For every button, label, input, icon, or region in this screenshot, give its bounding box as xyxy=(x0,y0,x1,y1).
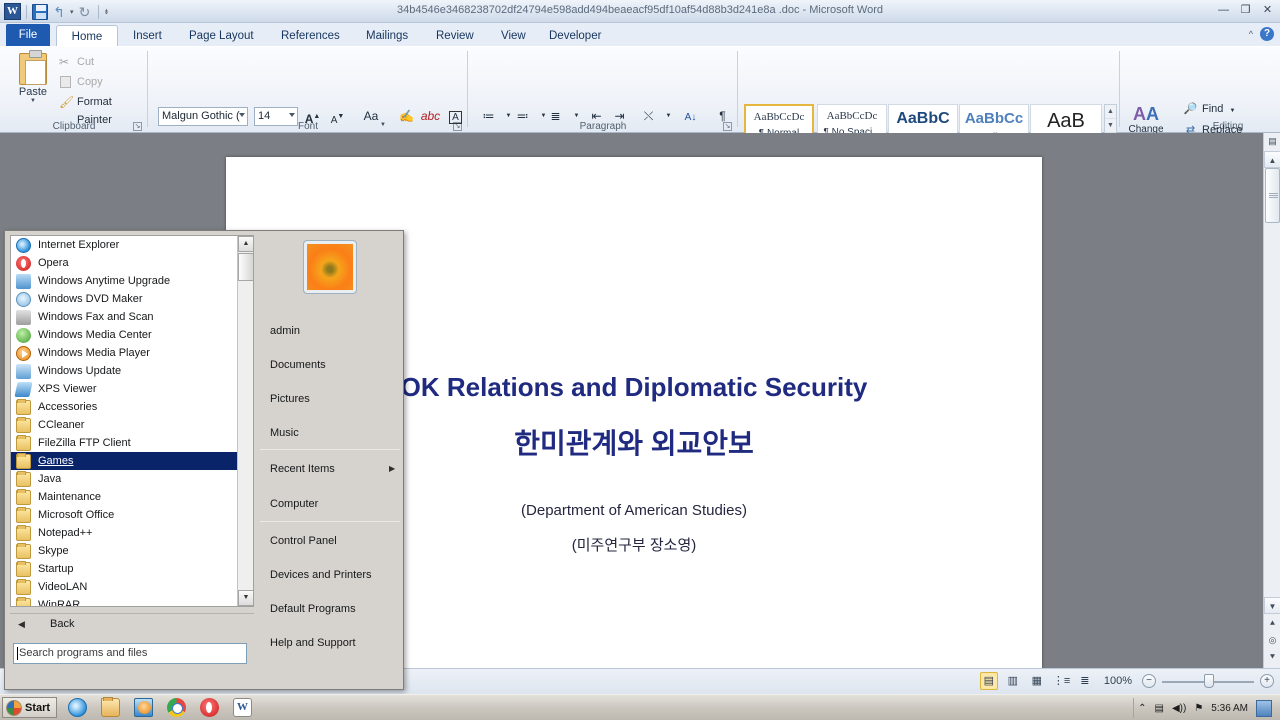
start-menu-scrollbar[interactable]: ▲ ▼ xyxy=(237,236,253,606)
clear-formatting-icon: ✍ xyxy=(399,109,414,123)
restore-button[interactable]: ❐ xyxy=(1237,3,1254,18)
opera-icon xyxy=(16,256,31,271)
pilcrow-icon: ¶ xyxy=(719,109,725,123)
show-formatting-marks-button[interactable]: ¶ xyxy=(712,106,733,127)
font-name-dropdown-icon[interactable] xyxy=(239,113,245,117)
start-menu-item-startup[interactable]: Startup xyxy=(11,560,238,578)
help-icon[interactable]: ? xyxy=(1260,27,1274,41)
text-caret xyxy=(17,647,18,660)
fax-icon xyxy=(16,310,31,325)
menu-item-music[interactable]: Music xyxy=(270,427,299,439)
phonetic-guide-icon: abc xyxy=(421,109,440,123)
folder-icon xyxy=(16,436,31,451)
copy-label: Copy xyxy=(77,76,103,88)
grow-font-button[interactable]: A▲ xyxy=(302,106,323,127)
ribbon-help-buttons: ^ ? xyxy=(1249,27,1274,41)
ribbon-tabs: File Home Insert Page Layout References … xyxy=(0,23,1280,47)
network-icon[interactable]: ▤ xyxy=(1155,703,1164,714)
tab-mailings[interactable]: Mailings xyxy=(357,25,417,47)
start-menu-item-label: WinRAR xyxy=(38,599,80,607)
font-name-value: Malgun Gothic ( xyxy=(162,110,240,122)
scroll-down-button[interactable]: ▼ xyxy=(1264,597,1280,614)
multilevel-list-icon: ≣ xyxy=(550,109,560,123)
zoom-slider[interactable] xyxy=(1162,673,1254,689)
start-menu-item-opera[interactable]: Opera xyxy=(11,254,238,272)
taskbar-quick-launch xyxy=(68,698,252,717)
clock[interactable]: 5:36 AM xyxy=(1211,703,1248,714)
start-menu-item-label: XPS Viewer xyxy=(38,383,97,395)
taskbar-opera-icon[interactable] xyxy=(200,698,219,717)
menu-divider xyxy=(260,449,400,450)
clear-formatting-button[interactable]: ✍ xyxy=(396,106,417,127)
paste-button[interactable]: Paste ▼ xyxy=(10,51,56,107)
copy-button[interactable]: Copy xyxy=(58,73,103,91)
scroll-up-button[interactable]: ▲ xyxy=(1264,151,1280,168)
asian-layout-button[interactable]: ⤬ xyxy=(638,106,659,127)
paste-dropdown-icon[interactable]: ▼ xyxy=(10,98,56,104)
tab-page-layout[interactable]: Page Layout xyxy=(180,25,263,47)
menu-item-recent-items[interactable]: Recent Items xyxy=(270,463,335,475)
start-menu-item-java[interactable]: Java xyxy=(11,470,238,488)
start-menu-item-label: Windows Anytime Upgrade xyxy=(38,275,170,287)
folder-icon xyxy=(16,598,31,607)
phonetic-guide-button[interactable]: abc xyxy=(420,106,441,127)
window-title: 34b4546e3468238702df24794e598add494beaea… xyxy=(0,4,1280,16)
start-menu-item-maintenance[interactable]: Maintenance xyxy=(11,488,238,506)
view-outline-button[interactable]: ⋮≡ xyxy=(1052,672,1070,690)
change-case-icon: Aa xyxy=(364,109,379,123)
start-menu-item-winrar[interactable]: WinRAR xyxy=(11,596,238,607)
start-menu-item-label: Startup xyxy=(38,563,73,575)
start-menu-item-label: FileZilla FTP Client xyxy=(38,437,131,449)
start-search-input[interactable]: Search programs and files xyxy=(13,643,247,664)
start-menu-item-label: Windows Media Center xyxy=(38,329,152,341)
start-menu-item-label: Microsoft Office xyxy=(38,509,114,521)
divider xyxy=(1119,51,1120,127)
paste-label: Paste xyxy=(10,86,56,98)
clipboard-dialog-launcher[interactable]: ↘ xyxy=(133,122,142,131)
sort-icon: A↓ xyxy=(685,112,697,123)
start-menu-item-label: Maintenance xyxy=(38,491,101,503)
wmp-icon xyxy=(16,346,31,361)
cut-button[interactable]: ✂ Cut xyxy=(58,53,94,71)
sort-button[interactable]: A↓ xyxy=(680,106,701,127)
character-border-icon: A xyxy=(449,111,462,124)
start-menu-item-accessories[interactable]: Accessories xyxy=(11,398,238,416)
bullets-button[interactable]: ≔ xyxy=(478,106,499,127)
start-menu-item-xps-viewer[interactable]: XPS Viewer xyxy=(11,380,238,398)
start-menu-item-label: CCleaner xyxy=(38,419,84,431)
increase-indent-icon: ⇥ xyxy=(614,109,624,123)
mc-icon xyxy=(16,328,31,343)
zoom-out-button[interactable]: − xyxy=(1142,674,1156,688)
start-menu-item-label: Windows DVD Maker xyxy=(38,293,143,305)
previous-page-icon[interactable]: ⯅ xyxy=(1264,615,1280,632)
start-menu-item-skype[interactable]: Skype xyxy=(11,542,238,560)
paintbrush-icon: 🖌 xyxy=(59,95,73,109)
view-full-screen-reading-button[interactable]: ▥ xyxy=(1004,672,1022,690)
folder-icon xyxy=(16,418,31,433)
tab-file[interactable]: File xyxy=(6,24,50,47)
asian-layout-dropdown-icon[interactable]: ▼ xyxy=(658,106,679,127)
binoculars-icon: 🔎 xyxy=(1183,102,1198,117)
ribbon: Paste ▼ ✂ Cut Copy 🖌 Format Painter Clip… xyxy=(0,46,1280,133)
scissors-icon: ✂ xyxy=(59,55,73,69)
start-search-placeholder: Search programs and files xyxy=(19,647,147,659)
window-controls: — ❐ ✕ xyxy=(1215,3,1276,18)
programs-scrollbar-thumb[interactable] xyxy=(238,253,254,281)
find-dropdown-icon[interactable]: ▼ xyxy=(1229,108,1235,114)
start-menu-item-videolan[interactable]: VideoLAN xyxy=(11,578,238,596)
multilevel-dropdown-icon[interactable]: ▼ xyxy=(566,106,587,127)
zoom-slider-thumb[interactable] xyxy=(1204,674,1214,688)
start-menu-programs-panel: Internet ExplorerOperaWindows Anytime Up… xyxy=(10,235,254,607)
windows-orb-icon xyxy=(6,700,22,716)
start-menu-item-label: Opera xyxy=(38,257,69,269)
action-center-icon[interactable]: ⚑ xyxy=(1194,703,1203,714)
style-sample: AaBbCc xyxy=(960,110,1028,127)
start-menu-item-label: VideoLAN xyxy=(38,581,87,593)
back-arrow-icon: ◀ xyxy=(18,619,25,630)
style-sample: AaBbCcDc xyxy=(746,111,812,123)
taskbar-windows-media-player-icon[interactable] xyxy=(134,698,153,717)
menu-item-pictures[interactable]: Pictures xyxy=(270,393,310,405)
menu-item-devices-and-printers[interactable]: Devices and Printers xyxy=(270,569,372,581)
title-bar: W ↰ ▾ ↻ ⇟ 34b4546e3468238702df24794e598a… xyxy=(0,0,1280,23)
start-menu-item-label: Windows Update xyxy=(38,365,121,377)
volume-icon[interactable]: ◀)) xyxy=(1172,703,1186,714)
start-menu-item-label: Internet Explorer xyxy=(38,239,119,251)
start-menu-right-panel: admin Documents Pictures Music Recent It… xyxy=(260,235,400,687)
folder-icon xyxy=(16,544,31,559)
numbering-button[interactable]: ≕ xyxy=(512,106,533,127)
folder-icon xyxy=(16,508,31,523)
taskbar: Start ⌃ ▤ ◀)) ⚑ 5:36 AM xyxy=(0,694,1280,720)
programs-scrollbar-track[interactable] xyxy=(238,281,254,589)
group-label-clipboard: Clipboard xyxy=(0,121,148,132)
start-menu-item-label: Notepad++ xyxy=(38,527,92,539)
status-bar-right: ▤ ▥ ▦ ⋮≡ ≣ 100% − + xyxy=(980,672,1274,690)
font-size-input[interactable]: 14 xyxy=(254,107,298,126)
start-menu-item-label: Games xyxy=(38,455,73,467)
screen: W ↰ ▾ ↻ ⇟ 34b4546e3468238702df24794e598a… xyxy=(0,0,1280,720)
folder-icon xyxy=(16,472,31,487)
style-sample: AaB xyxy=(1031,110,1101,133)
styles-scroll-up-icon[interactable]: ▲ xyxy=(1105,105,1116,119)
find-button[interactable]: 🔎 Find ▼ xyxy=(1182,100,1235,119)
start-menu-item-label: Java xyxy=(38,473,61,485)
close-button[interactable]: ✕ xyxy=(1259,3,1276,18)
find-label: Find xyxy=(1202,103,1223,115)
recent-items-submenu-icon[interactable]: ▶ xyxy=(389,464,395,473)
style-sample: AaBbCcDc xyxy=(818,110,886,122)
copy-icon xyxy=(59,75,73,89)
user-name-label[interactable]: admin xyxy=(270,325,300,337)
start-menu-item-label: Skype xyxy=(38,545,69,557)
start-button[interactable]: Start xyxy=(2,697,57,718)
folder-icon xyxy=(16,490,31,505)
view-print-layout-button[interactable]: ▤ xyxy=(980,672,998,690)
zoom-in-button[interactable]: + xyxy=(1260,674,1274,688)
taskbar-internet-explorer-icon[interactable] xyxy=(68,698,87,717)
folder-icon xyxy=(16,454,31,469)
asian-layout-icon: ⤬ xyxy=(644,109,654,123)
start-menu-item-windows-media-player[interactable]: Windows Media Player xyxy=(11,344,238,362)
tab-references[interactable]: References xyxy=(272,25,349,47)
menu-item-help-and-support[interactable]: Help and Support xyxy=(270,637,356,649)
minimize-button[interactable]: — xyxy=(1215,3,1232,18)
view-draft-button[interactable]: ≣ xyxy=(1076,672,1094,690)
user-avatar[interactable] xyxy=(304,241,356,293)
start-menu-item-windows-update[interactable]: Windows Update xyxy=(11,362,238,380)
folder-icon xyxy=(16,526,31,541)
tab-home[interactable]: Home xyxy=(56,25,118,47)
ribbon-group-clipboard: Paste ▼ ✂ Cut Copy 🖌 Format Painter Clip… xyxy=(0,47,148,134)
shrink-font-button[interactable]: A▼ xyxy=(327,106,348,127)
numbering-icon: ≕ xyxy=(517,109,529,123)
tab-developer[interactable]: Developer xyxy=(540,25,610,47)
tab-view[interactable]: View xyxy=(492,25,535,47)
multilevel-list-button[interactable]: ≣ xyxy=(545,106,566,127)
start-menu-item-label: Windows Media Player xyxy=(38,347,150,359)
taskbar-microsoft-word-icon[interactable] xyxy=(233,698,252,717)
start-menu-back-button[interactable]: ◀ Back xyxy=(10,613,254,637)
minimize-ribbon-icon[interactable]: ^ xyxy=(1249,29,1253,39)
styles-scroll-down-icon[interactable]: ▼ xyxy=(1105,119,1116,133)
start-menu-item-windows-anytime-upgrade[interactable]: Windows Anytime Upgrade xyxy=(11,272,238,290)
start-menu-item-windows-fax-and-scan[interactable]: Windows Fax and Scan xyxy=(11,308,238,326)
ie-icon xyxy=(16,238,31,253)
paste-icon xyxy=(19,53,47,85)
change-styles-icon: AA xyxy=(1122,104,1170,124)
format-painter-button[interactable]: 🖌 Format Painter xyxy=(58,93,148,111)
start-menu-item-games[interactable]: Games xyxy=(11,452,238,470)
scrollbar-thumb[interactable] xyxy=(1265,168,1280,223)
decrease-indent-icon: ⇤ xyxy=(591,109,601,123)
xps-icon xyxy=(14,382,32,397)
taskbar-google-chrome-icon[interactable] xyxy=(167,698,186,717)
split-window-icon[interactable]: ▤ xyxy=(1264,133,1280,150)
font-name-input[interactable]: Malgun Gothic ( xyxy=(158,107,248,126)
start-menu-item-label: Accessories xyxy=(38,401,97,413)
bullets-icon: ≔ xyxy=(483,109,495,123)
character-border-button[interactable]: A xyxy=(445,106,466,127)
folder-icon xyxy=(16,562,31,577)
font-size-value: 14 xyxy=(258,110,270,122)
taskbar-windows-explorer-icon[interactable] xyxy=(101,698,120,717)
style-sample: AaBbC xyxy=(889,110,957,128)
start-menu-item-label: Windows Fax and Scan xyxy=(38,311,154,323)
start-button-label: Start xyxy=(25,702,50,714)
show-desktop-button[interactable] xyxy=(1256,700,1272,717)
menu-item-documents[interactable]: Documents xyxy=(270,359,326,371)
start-menu-item-windows-dvd-maker[interactable]: Windows DVD Maker xyxy=(11,290,238,308)
decrease-indent-button[interactable]: ⇤ xyxy=(586,106,607,127)
start-menu-item-ccleaner[interactable]: CCleaner xyxy=(11,416,238,434)
menu-item-control-panel[interactable]: Control Panel xyxy=(270,535,337,547)
increase-indent-button[interactable]: ⇥ xyxy=(609,106,630,127)
wu-icon xyxy=(16,364,31,379)
view-web-layout-button[interactable]: ▦ xyxy=(1028,672,1046,690)
change-case-button[interactable]: Aa▼ xyxy=(356,106,386,127)
start-menu-item-windows-media-center[interactable]: Windows Media Center xyxy=(11,326,238,344)
start-menu-program-list: Internet ExplorerOperaWindows Anytime Up… xyxy=(11,236,238,607)
programs-scroll-down-button[interactable]: ▼ xyxy=(238,590,254,606)
start-menu-item-internet-explorer[interactable]: Internet Explorer xyxy=(11,236,238,254)
upg-icon xyxy=(16,274,31,289)
start-menu-item-notepad[interactable]: Notepad++ xyxy=(11,524,238,542)
zoom-level-label[interactable]: 100% xyxy=(1104,675,1132,687)
tab-review[interactable]: Review xyxy=(427,25,483,47)
folder-icon xyxy=(16,400,31,415)
start-menu: Internet ExplorerOperaWindows Anytime Up… xyxy=(4,230,404,690)
show-hidden-icons-icon[interactable]: ⌃ xyxy=(1138,703,1146,714)
system-tray: ⌃ ▤ ◀)) ⚑ 5:36 AM xyxy=(1133,698,1276,718)
menu-item-default-programs[interactable]: Default Programs xyxy=(270,603,356,615)
folder-icon xyxy=(16,580,31,595)
back-label: Back xyxy=(50,618,74,630)
programs-scroll-up-button[interactable]: ▲ xyxy=(238,236,254,252)
dvd-icon xyxy=(16,292,31,307)
start-menu-item-microsoft-office[interactable]: Microsoft Office xyxy=(11,506,238,524)
start-menu-item-filezilla-ftp-client[interactable]: FileZilla FTP Client xyxy=(11,434,238,452)
tab-insert[interactable]: Insert xyxy=(124,25,171,47)
next-page-icon[interactable]: ⯆ xyxy=(1264,649,1280,666)
menu-item-computer[interactable]: Computer xyxy=(270,498,318,510)
select-browse-object-icon[interactable]: ◎ xyxy=(1264,632,1280,649)
cut-label: Cut xyxy=(77,56,94,68)
menu-divider xyxy=(260,521,400,522)
font-size-dropdown-icon[interactable] xyxy=(289,113,295,117)
vertical-scrollbar[interactable]: ▤ ▲ ▼ ⯅ ◎ ⯆ xyxy=(1263,133,1280,668)
